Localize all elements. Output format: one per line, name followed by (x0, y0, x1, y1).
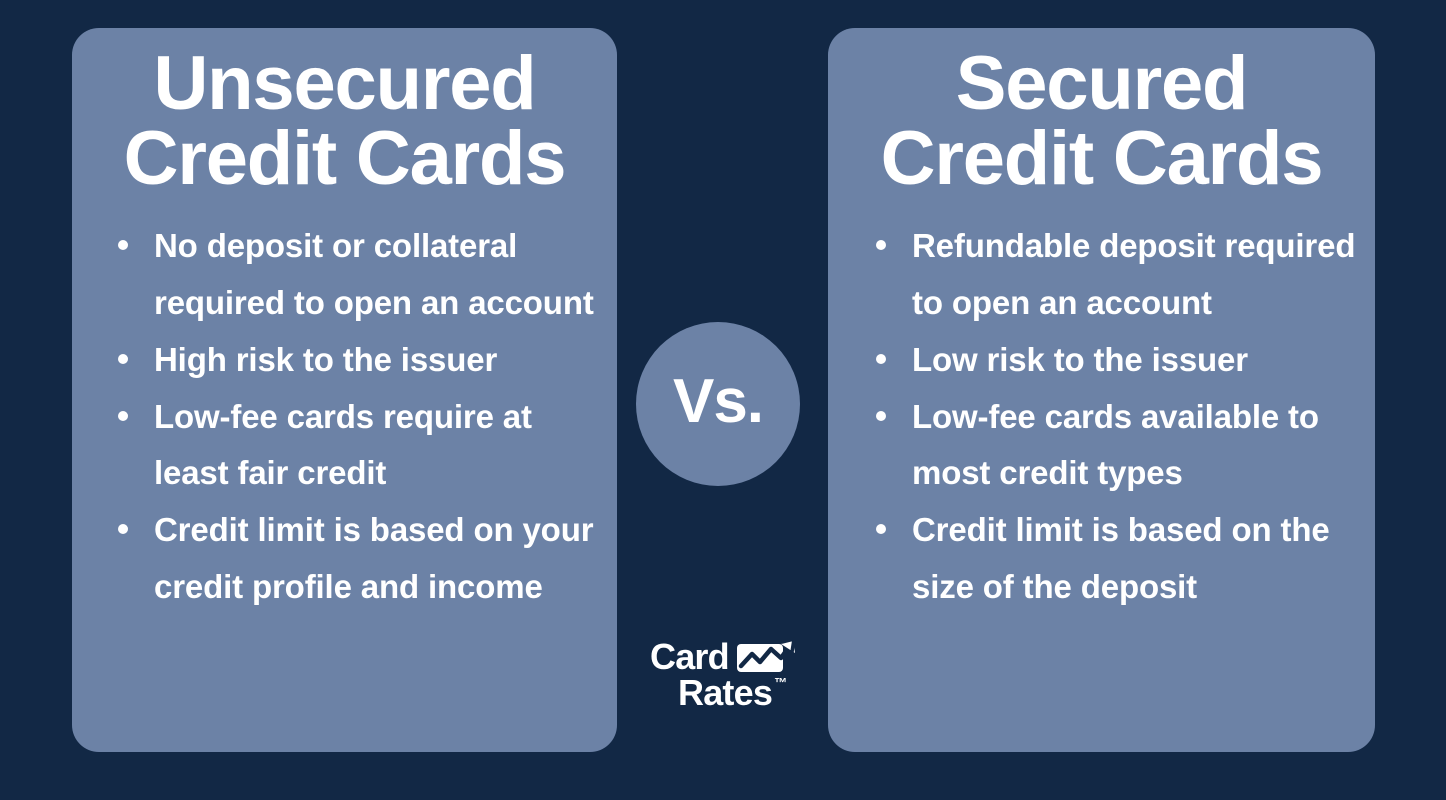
list-item-label: Low-fee cards available to most credit t… (912, 398, 1319, 492)
list-item-label: Credit limit is based on the size of the… (912, 511, 1330, 605)
versus-badge: Vs. (636, 322, 800, 486)
unsecured-bullet-list: No deposit or collateral required to ope… (72, 218, 617, 615)
bullet-dot-icon (118, 354, 128, 364)
bullet-dot-icon (118, 524, 128, 534)
logo-word-card: Card (650, 639, 729, 675)
infographic-root: Unsecured Credit Cards No deposit or col… (0, 0, 1446, 800)
list-item: High risk to the issuer (110, 332, 607, 389)
bullet-dot-icon (876, 240, 886, 250)
list-item-label: Refundable deposit required to open an a… (912, 227, 1355, 321)
bullet-dot-icon (118, 240, 128, 250)
comparison-card-secured: Secured Credit Cards Refundable deposit … (828, 28, 1375, 752)
bullet-dot-icon (118, 411, 128, 421)
bullet-dot-icon (876, 524, 886, 534)
cardrates-logo: Card Rates ™ (650, 636, 802, 720)
list-item: Low-fee cards require at least fair cred… (110, 389, 607, 503)
list-item-label: No deposit or collateral required to ope… (154, 227, 594, 321)
bullet-dot-icon (876, 411, 886, 421)
list-item: No deposit or collateral required to ope… (110, 218, 607, 332)
unsecured-card-title: Unsecured Credit Cards (72, 28, 617, 196)
list-item: Low risk to the issuer (868, 332, 1369, 389)
list-item: Refundable deposit required to open an a… (868, 218, 1369, 332)
logo-row-bottom: Rates ™ (650, 672, 802, 714)
list-item: Credit limit is based on the size of the… (868, 502, 1369, 616)
list-item: Credit limit is based on your credit pro… (110, 502, 607, 616)
list-item-label: High risk to the issuer (154, 341, 497, 378)
list-item-label: Low-fee cards require at least fair cred… (154, 398, 532, 492)
list-item-label: Credit limit is based on your credit pro… (154, 511, 593, 605)
list-item-label: Low risk to the issuer (912, 341, 1248, 378)
secured-card-title: Secured Credit Cards (828, 28, 1375, 196)
list-item: Low-fee cards available to most credit t… (868, 389, 1369, 503)
bullet-dot-icon (876, 354, 886, 364)
logo-word-rates: Rates (678, 675, 772, 711)
comparison-card-unsecured: Unsecured Credit Cards No deposit or col… (72, 28, 617, 752)
versus-label: Vs. (673, 371, 763, 437)
secured-bullet-list: Refundable deposit required to open an a… (828, 218, 1375, 615)
trademark-symbol: ™ (774, 676, 787, 689)
